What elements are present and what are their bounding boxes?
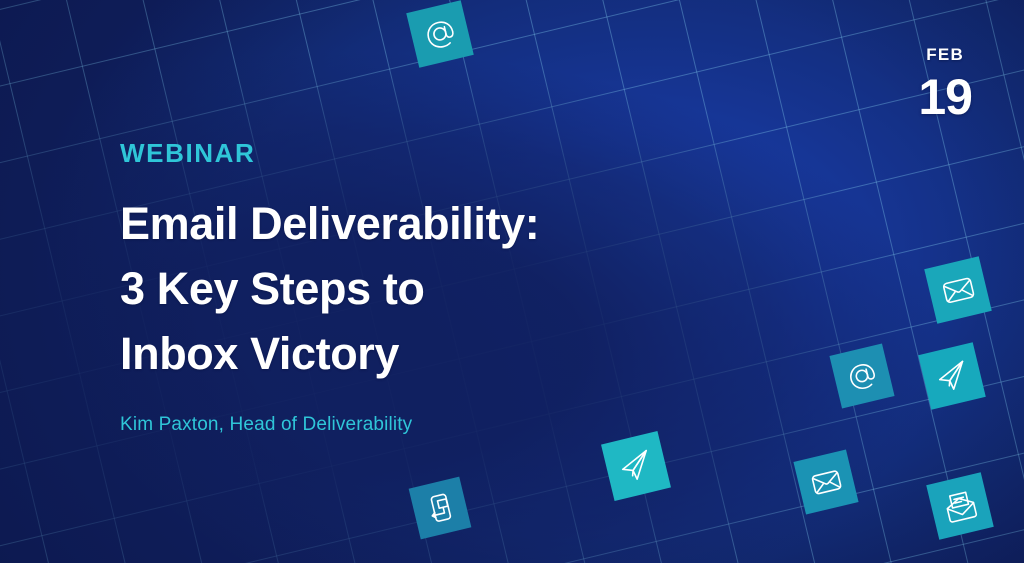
icon-tile-envelope xyxy=(924,256,992,324)
headline-line-2: 3 Key Steps to xyxy=(120,257,740,322)
icon-tile-at-sign xyxy=(406,0,474,68)
icon-tile-paper-plane xyxy=(601,431,671,501)
mobile-device-icon xyxy=(421,489,460,528)
icon-tile-mobile-device xyxy=(409,477,472,540)
open-mail-icon xyxy=(939,485,981,527)
headline-line-3: Inbox Victory xyxy=(120,322,740,387)
icon-tile-paper-plane xyxy=(918,342,986,410)
date-month: FEB xyxy=(918,46,972,63)
envelope-icon xyxy=(806,462,846,502)
icon-tile-open-mail xyxy=(926,472,994,540)
paper-plane-icon xyxy=(931,355,973,397)
date-day: 19 xyxy=(918,72,972,122)
speaker-byline: Kim Paxton, Head of Deliverability xyxy=(120,414,740,437)
at-sign-icon xyxy=(419,13,461,55)
page-title: Email Deliverability: 3 Key Steps to Inb… xyxy=(120,192,740,386)
icon-tile-envelope xyxy=(793,449,858,514)
text-content-block: WEBINAR Email Deliverability: 3 Key Step… xyxy=(120,140,740,437)
envelope-icon xyxy=(937,269,979,311)
paper-plane-icon xyxy=(614,444,657,487)
date-badge: FEB 19 xyxy=(918,46,972,122)
at-sign-icon xyxy=(842,356,882,396)
eyebrow-label: WEBINAR xyxy=(120,140,740,166)
webinar-promo-slide: WEBINAR Email Deliverability: 3 Key Step… xyxy=(0,0,1024,563)
icon-tile-at-sign xyxy=(829,343,894,408)
headline-line-1: Email Deliverability: xyxy=(120,192,740,257)
